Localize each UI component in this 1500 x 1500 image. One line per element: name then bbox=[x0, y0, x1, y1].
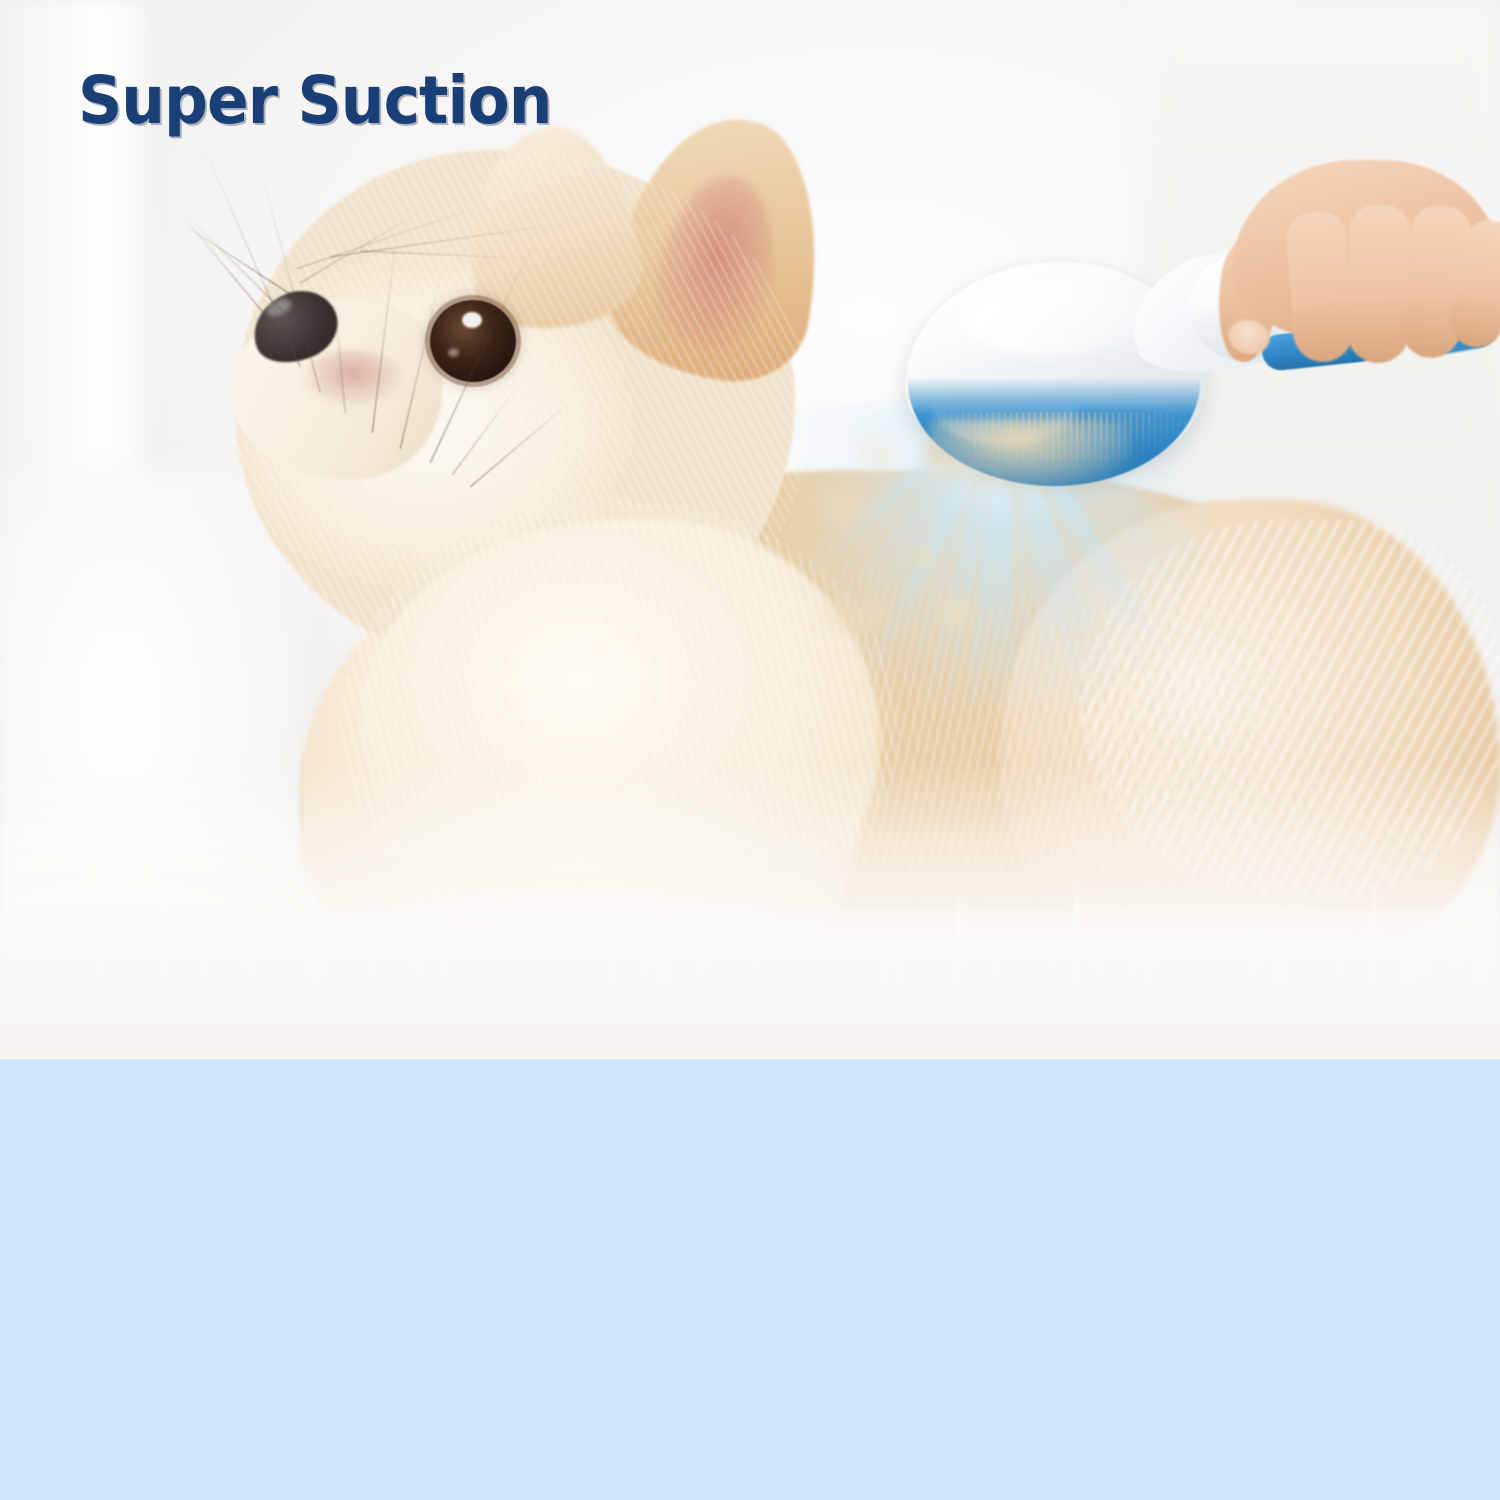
product-feature-image: Super Suction 16 levelsof suction adjust… bbox=[0, 0, 1500, 1500]
suction-levels-banner: 16 levelsof suction adjustment, suitable… bbox=[0, 1059, 1500, 1500]
dog-eye-highlight-secondary bbox=[448, 348, 459, 357]
page-title: Super Suction bbox=[78, 62, 552, 139]
dog-eye-highlight bbox=[462, 312, 482, 328]
collected-hair-clump bbox=[930, 420, 1130, 492]
brush-head-gloss bbox=[960, 282, 1150, 356]
hero-photo: Super Suction bbox=[0, 0, 1500, 1059]
rug-foreground bbox=[0, 909, 1500, 1059]
